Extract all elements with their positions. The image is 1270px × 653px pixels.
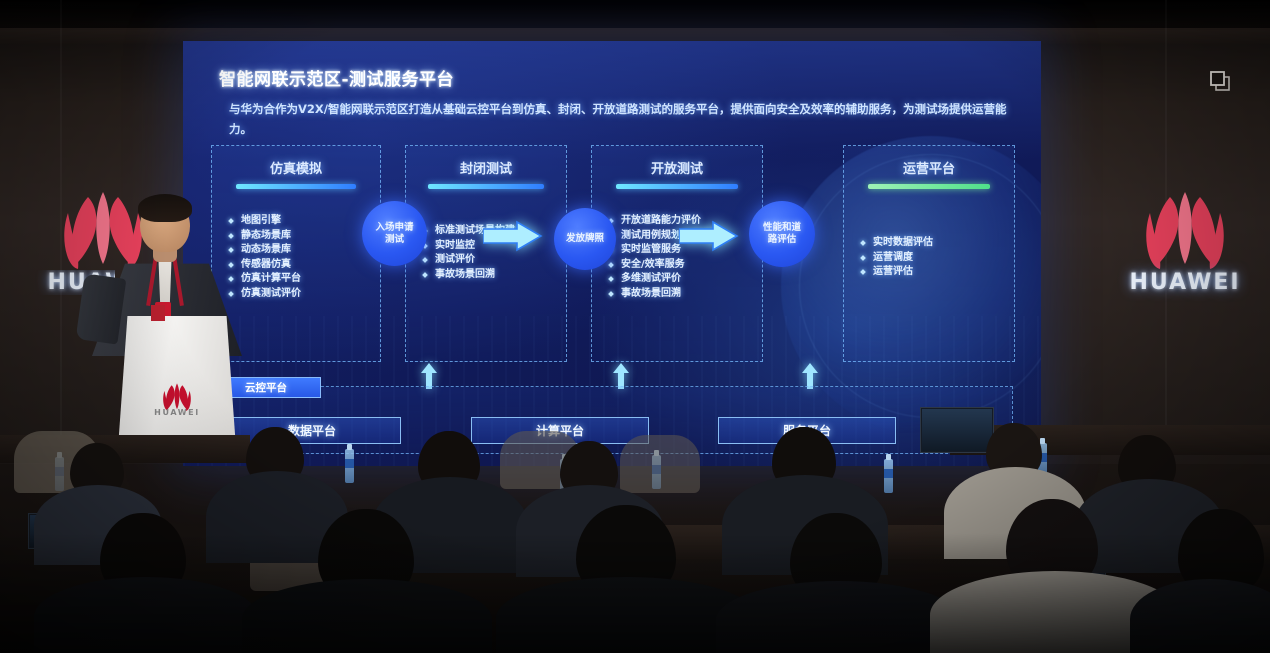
column-open-test: 开放测试 开放道路能力评价 测试用例规划与调度 实时监管服务 安全/效率服务 多… <box>591 145 763 362</box>
projection-screen: 智能网联示范区-测试服务平台 与华为合作为V2X/智能网联示范区打造从基础云控平… <box>183 41 1041 466</box>
list-item: 运营调度 <box>858 251 1008 266</box>
gate-circle-line2: 路评估 <box>768 234 797 246</box>
list-item: 动态场景库 <box>226 243 374 258</box>
list-item: 传感器仿真 <box>226 258 374 273</box>
column-header: 运营平台 <box>844 158 1014 177</box>
list-item: 地图引擎 <box>226 214 374 229</box>
column-bullets: 地图引擎 静态场景库 动态场景库 传感器仿真 仿真计算平台 仿真测试评价 <box>226 214 374 301</box>
list-item: 事故场景回溯 <box>606 287 756 302</box>
gate-circle-license-issue: 发放牌照 <box>554 208 616 270</box>
list-item: 运营评估 <box>858 265 1008 280</box>
huawei-petal-logo-icon <box>1122 188 1248 276</box>
list-item: 仿真测试评价 <box>226 287 374 302</box>
huawei-wordmark: HUAWEI <box>1110 270 1260 295</box>
column-closed-test: 封闭测试 标准测试场景构建 实时监控 测试评价 事故场景回溯 <box>405 145 567 362</box>
speaker-hair <box>138 194 192 222</box>
huawei-logo-right: HUAWEI <box>1110 188 1260 306</box>
column-rule <box>868 184 990 189</box>
gate-circle-line1: 入场申请 <box>375 222 413 234</box>
slide-subtitle: 与华为合作为V2X/智能网联示范区打造从基础云控平台到仿真、封闭、开放道路测试的… <box>229 99 1019 139</box>
arrow-right-icon <box>679 219 739 253</box>
list-item: 安全/效率服务 <box>606 258 756 273</box>
column-rule <box>428 184 543 189</box>
podium-item <box>151 305 165 321</box>
column-header: 封闭测试 <box>406 158 566 177</box>
list-item: 测试评价 <box>420 253 560 268</box>
column-header: 开放测试 <box>592 158 762 177</box>
list-item: 事故场景回溯 <box>420 268 560 283</box>
gate-circle-entry-application: 入场申请 测试 <box>362 201 427 266</box>
presentation-scene: 智能网联示范区-测试服务平台 与华为合作为V2X/智能网联示范区打造从基础云控平… <box>0 0 1270 653</box>
column-bullets: 实时数据评估 运营调度 运营评估 <box>858 236 1008 280</box>
platform-box-compute: 计算平台 <box>471 417 649 444</box>
arrow-right-icon <box>483 219 543 253</box>
copy-squares-icon[interactable] <box>1206 68 1236 96</box>
column-rule <box>236 184 357 189</box>
column-header: 仿真模拟 <box>212 158 380 177</box>
column-rule <box>616 184 738 189</box>
list-item: 实时数据评估 <box>858 236 1008 251</box>
gate-circle-line2: 测试 <box>385 234 404 246</box>
gate-circle-performance-road-eval: 性能和道 路评估 <box>749 201 815 267</box>
podium: HUAWEI <box>118 316 236 448</box>
platform-box-data: 数据平台 <box>223 417 401 444</box>
column-simulation: 仿真模拟 地图引擎 静态场景库 动态场景库 传感器仿真 仿真计算平台 仿真测试评… <box>211 145 381 362</box>
list-item: 静态场景库 <box>226 229 374 244</box>
list-item: 仿真计算平台 <box>226 272 374 287</box>
slide-title: 智能网联示范区-测试服务平台 <box>219 65 454 90</box>
ceiling-strip <box>0 0 1270 30</box>
podium-wordmark: HUAWEI <box>118 408 236 417</box>
column-operations-platform: 运营平台 实时数据评估 运营调度 运营评估 <box>843 145 1015 362</box>
platform-box-service: 服务平台 <box>718 417 896 444</box>
gate-circle-line1: 性能和道 <box>763 222 801 234</box>
gate-circle-line1: 发放牌照 <box>566 233 604 245</box>
list-item: 多维测试评价 <box>606 272 756 287</box>
